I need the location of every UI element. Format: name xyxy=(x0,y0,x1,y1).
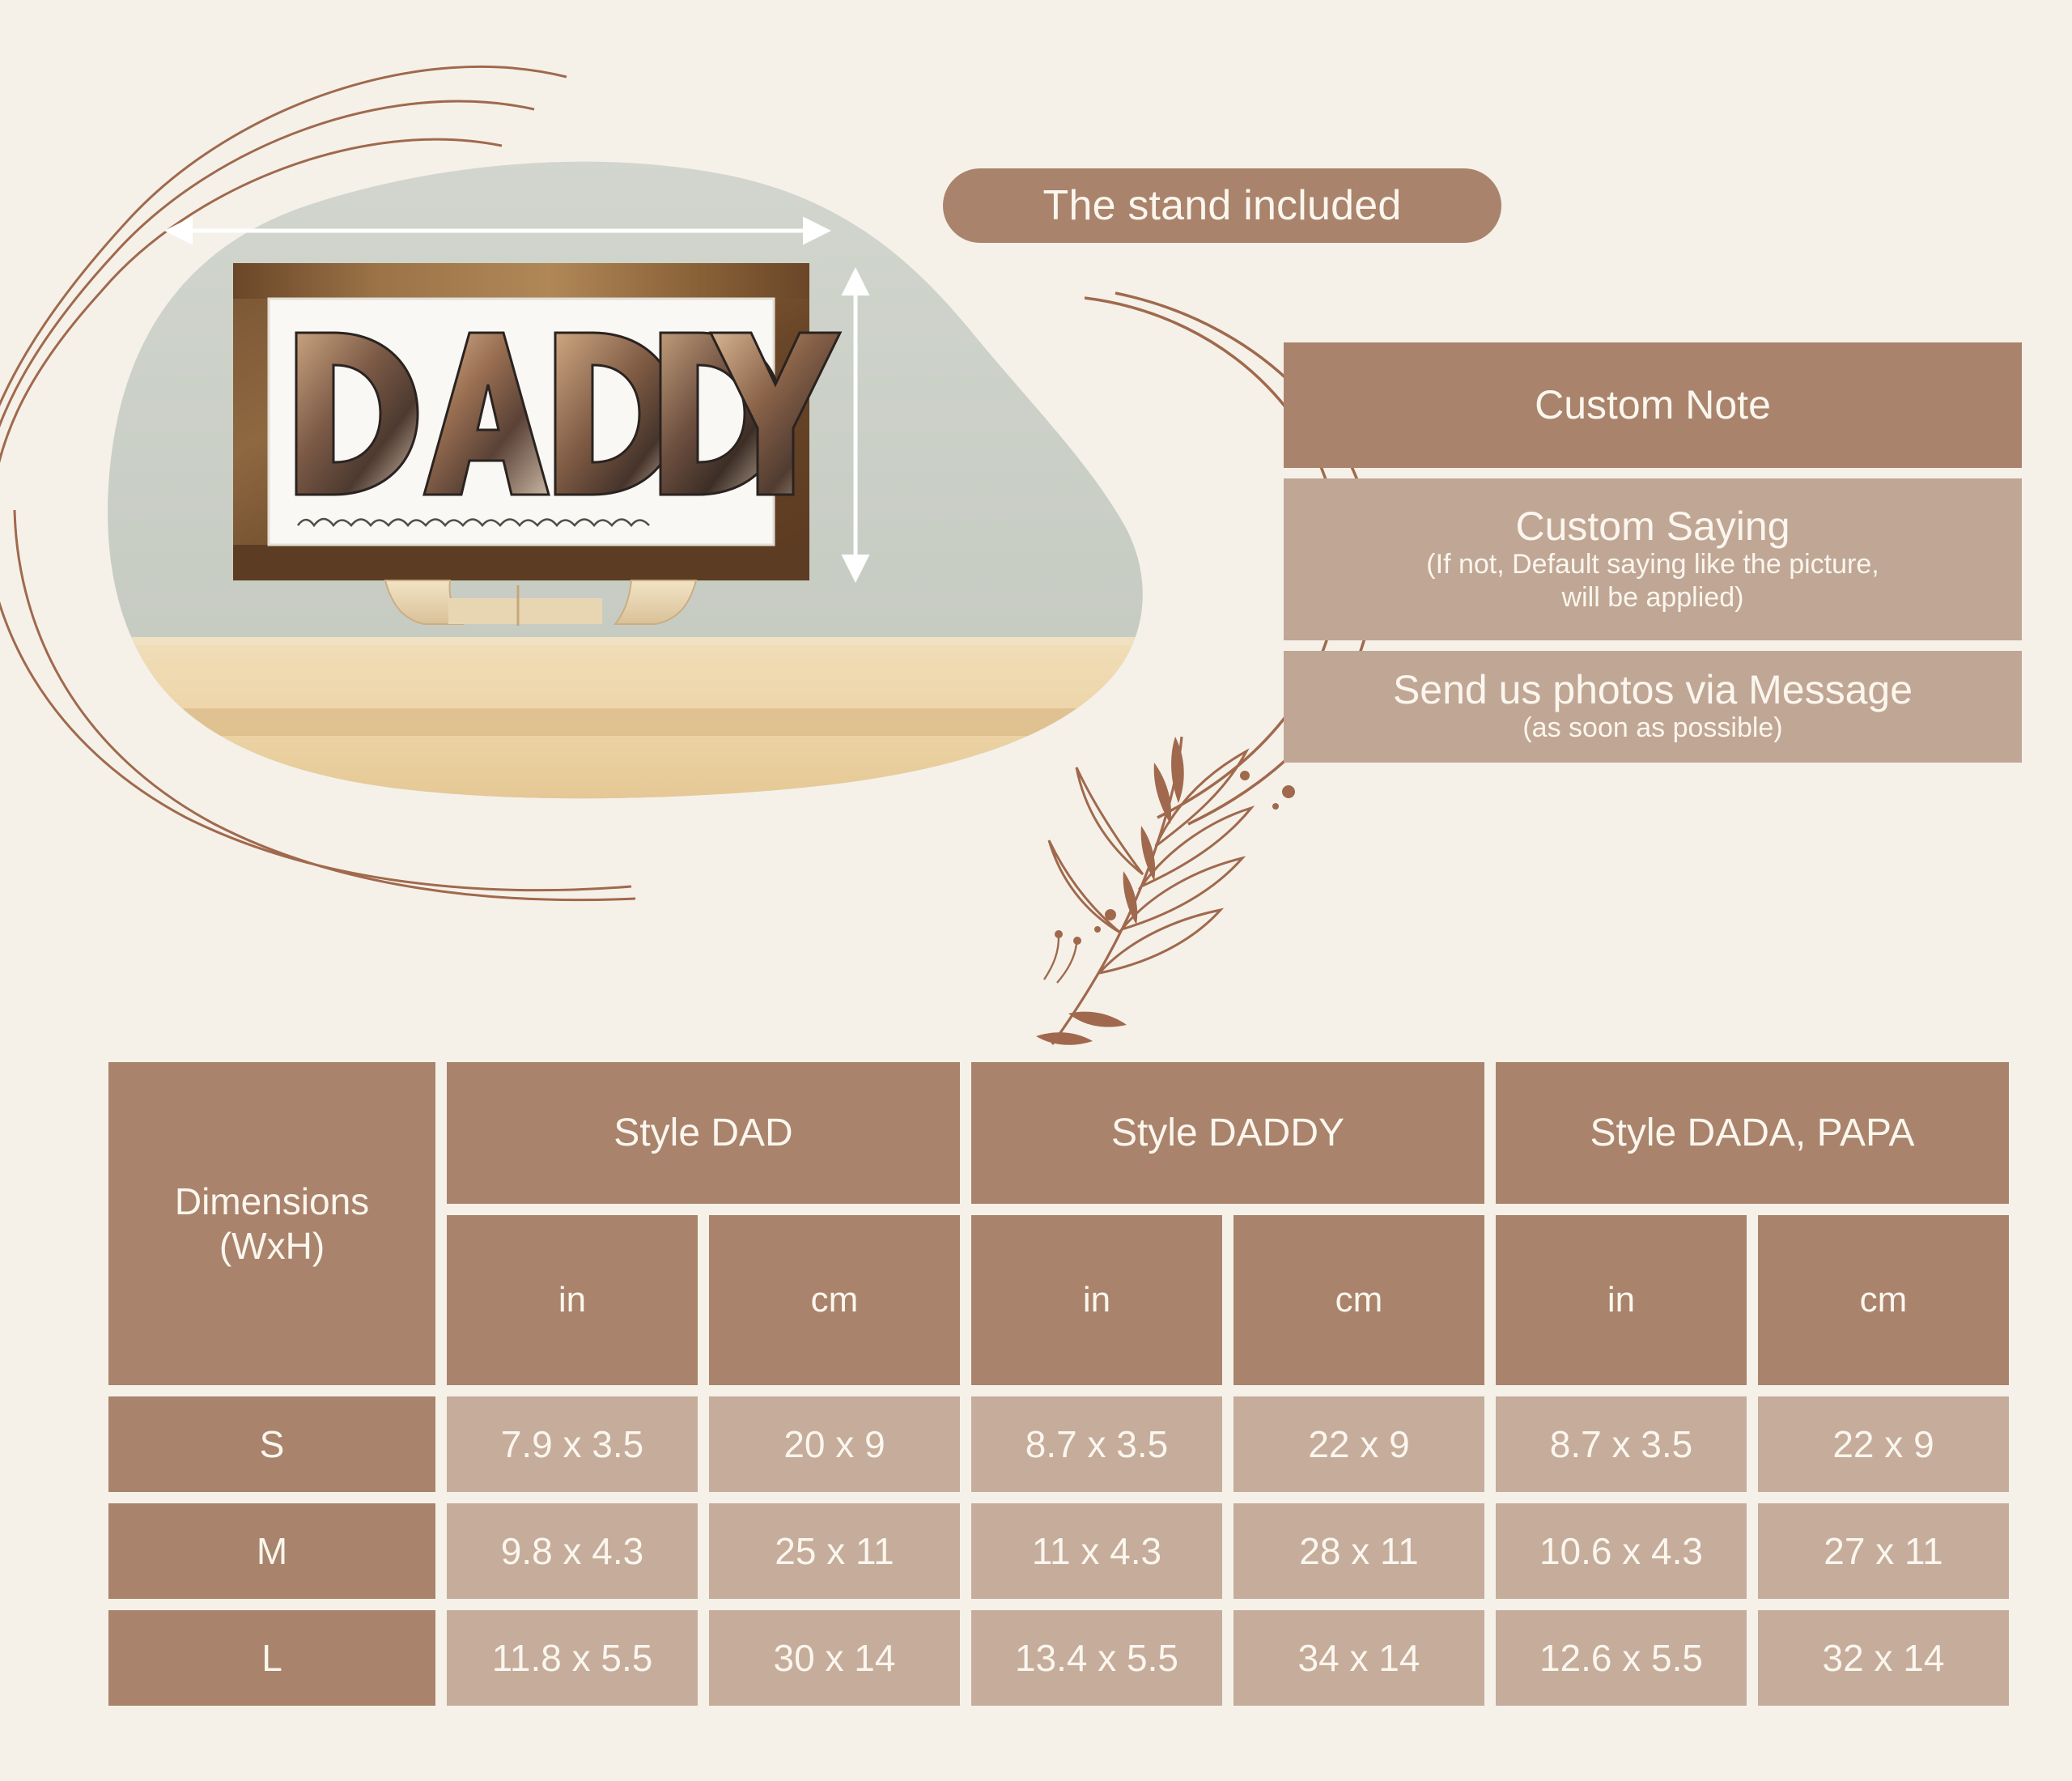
cell-l-daddy-cm: 34 x 14 xyxy=(1233,1610,1484,1706)
cell-s-dada-cm: 22 x 9 xyxy=(1758,1396,2009,1492)
cell-l-dada-cm: 32 x 14 xyxy=(1758,1610,2009,1706)
style-dada-papa-unit-in: in xyxy=(1496,1215,1747,1385)
cell-s-daddy-cm: 22 x 9 xyxy=(1233,1396,1484,1492)
customization-info-panel: Custom Note Custom Saying (If not, Defau… xyxy=(1284,342,2022,763)
cell-s-dad-in: 7.9 x 3.5 xyxy=(447,1396,698,1492)
style-dad-unit-cm: cm xyxy=(709,1215,960,1385)
style-dada-papa-header: Style DADA, PAPA xyxy=(1496,1062,2009,1204)
style-group-dad: Style DAD in cm xyxy=(447,1062,960,1385)
table-row: S 7.9 x 3.5 20 x 9 8.7 x 3.5 22 x 9 8.7 … xyxy=(108,1396,1994,1492)
custom-saying-note: (If not, Default saying like the picture… xyxy=(1426,548,1879,613)
send-photos-note: (as soon as possible) xyxy=(1522,712,1782,744)
size-label-l: L xyxy=(108,1610,435,1706)
size-chart-table: Dimensions (WxH) Style DAD in cm Style D… xyxy=(108,1062,1994,1706)
cell-l-dad-in: 11.8 x 5.5 xyxy=(447,1610,698,1706)
style-daddy-header: Style DADDY xyxy=(971,1062,1484,1204)
cell-m-dada-cm: 27 x 11 xyxy=(1758,1503,2009,1599)
custom-note-title: Custom Note xyxy=(1535,384,1771,427)
style-dad-unit-in: in xyxy=(447,1215,698,1385)
cell-m-dada-in: 10.6 x 4.3 xyxy=(1496,1503,1747,1599)
style-daddy-unit-in: in xyxy=(971,1215,1222,1385)
dimensions-label-line1: Dimensions xyxy=(175,1180,369,1223)
cell-s-dada-in: 8.7 x 3.5 xyxy=(1496,1396,1747,1492)
table-row: M 9.8 x 4.3 25 x 11 11 x 4.3 28 x 11 10.… xyxy=(108,1503,1994,1599)
cell-l-dada-in: 12.6 x 5.5 xyxy=(1496,1610,1747,1706)
cell-l-daddy-in: 13.4 x 5.5 xyxy=(971,1610,1222,1706)
cell-m-dad-cm: 25 x 11 xyxy=(709,1503,960,1599)
product-photo xyxy=(97,142,1157,895)
style-group-daddy: Style DADDY in cm xyxy=(971,1062,1484,1385)
cell-s-daddy-in: 8.7 x 3.5 xyxy=(971,1396,1222,1492)
style-dada-papa-unit-cm: cm xyxy=(1758,1215,2009,1385)
info-box-custom-note: Custom Note xyxy=(1284,342,2022,468)
size-label-s: S xyxy=(108,1396,435,1492)
cell-l-dad-cm: 30 x 14 xyxy=(709,1610,960,1706)
infographic-canvas: The stand included Custom Note Custom Sa… xyxy=(0,0,2072,1781)
wooden-frame xyxy=(233,263,840,580)
custom-saying-title: Custom Saying xyxy=(1515,505,1790,548)
cell-m-dad-in: 9.8 x 4.3 xyxy=(447,1503,698,1599)
stand-included-label: The stand included xyxy=(1042,181,1401,230)
size-label-m: M xyxy=(108,1503,435,1599)
stand-included-badge: The stand included xyxy=(943,168,1501,243)
dimensions-header: Dimensions (WxH) xyxy=(108,1062,435,1385)
style-daddy-unit-cm: cm xyxy=(1233,1215,1484,1385)
cell-s-dad-cm: 20 x 9 xyxy=(709,1396,960,1492)
cell-m-daddy-cm: 28 x 11 xyxy=(1233,1503,1484,1599)
dimensions-label-line2: (WxH) xyxy=(219,1224,325,1268)
cell-m-daddy-in: 11 x 4.3 xyxy=(971,1503,1222,1599)
info-box-send-photos: Send us photos via Message (as soon as p… xyxy=(1284,651,2022,763)
info-box-custom-saying: Custom Saying (If not, Default saying li… xyxy=(1284,478,2022,640)
table-header-row: Dimensions (WxH) Style DAD in cm Style D… xyxy=(108,1062,1994,1385)
style-dad-header: Style DAD xyxy=(447,1062,960,1204)
send-photos-title: Send us photos via Message xyxy=(1393,669,1913,712)
table-row: L 11.8 x 5.5 30 x 14 13.4 x 5.5 34 x 14 … xyxy=(108,1610,1994,1706)
style-group-dada-papa: Style DADA, PAPA in cm xyxy=(1496,1062,2009,1385)
